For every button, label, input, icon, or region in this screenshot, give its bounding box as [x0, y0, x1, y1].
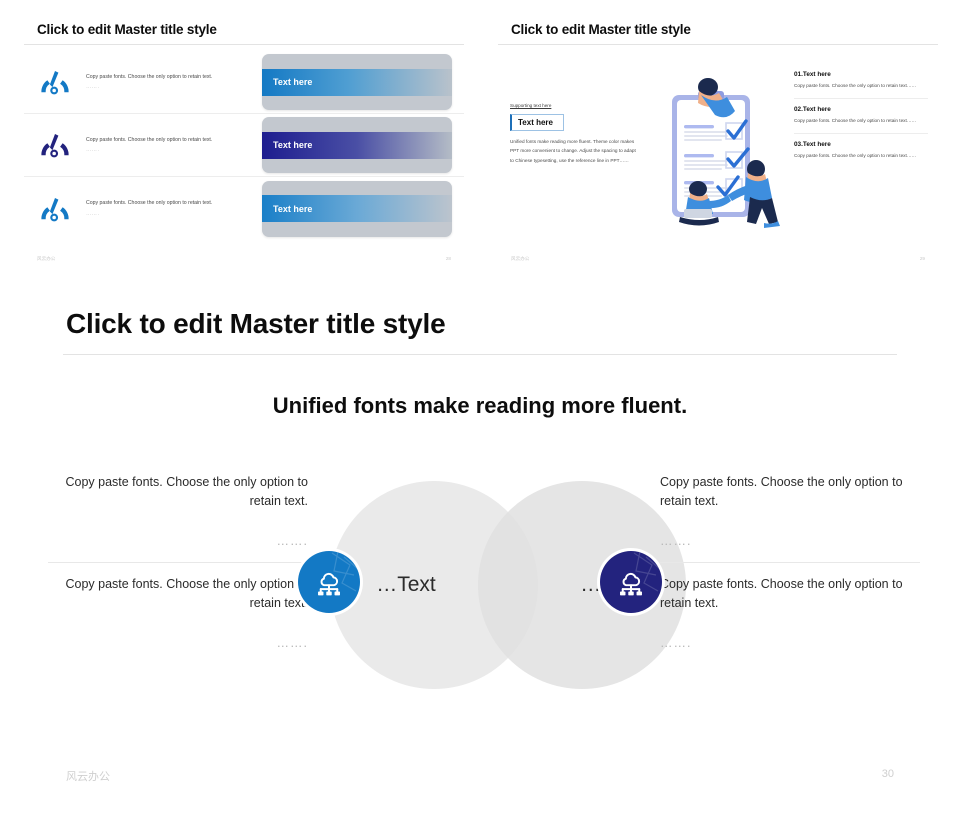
block-text: Copy paste fonts. Choose the only option… — [660, 575, 920, 614]
list-item[interactable]: 02.Text here Copy paste fonts. Choose th… — [794, 106, 928, 134]
bar-label: Text here — [262, 77, 312, 87]
footer-brand: 风云办公 — [511, 256, 529, 262]
list-item-heading: 01.Text here — [794, 71, 928, 78]
gauge-icon — [24, 68, 86, 96]
slide-thumbnail-28[interactable]: Click to edit Master title style Copy pa… — [24, 22, 464, 262]
title-divider — [24, 44, 464, 45]
venn-circle-left-label: …Text — [376, 573, 436, 597]
list-item-text: Copy paste fonts. Choose the only option… — [794, 117, 928, 126]
text-here-bar[interactable]: Text here — [262, 181, 452, 237]
title-divider — [63, 354, 897, 355]
text-block[interactable]: Copy paste fonts. Choose the only option… — [48, 473, 308, 563]
slide-main-30[interactable]: Click to edit Master title style Unified… — [0, 290, 960, 816]
list-item[interactable]: 03.Text here Copy paste fonts. Choose th… — [794, 141, 928, 168]
feature-row[interactable]: Copy paste fonts. Choose the only option… — [24, 177, 464, 240]
footer-page-number: 29 — [920, 256, 925, 262]
list-item[interactable]: 01.Text here Copy paste fonts. Choose th… — [794, 71, 928, 99]
list-item-heading: 03.Text here — [794, 141, 928, 148]
page-title: Click to edit Master title style — [511, 22, 938, 37]
feature-text: Copy paste fonts. Choose the only option… — [86, 135, 236, 155]
slide-thumbnail-29[interactable]: Click to edit Master title style Support… — [498, 22, 938, 262]
text-here-bar[interactable]: Text here — [262, 117, 452, 173]
bar-fill: Text here — [262, 195, 452, 222]
venn-diagram: Copy paste fonts. Choose the only option… — [0, 481, 960, 731]
right-text-column: Copy paste fonts. Choose the only option… — [660, 473, 920, 676]
gauge-icon — [24, 131, 86, 159]
feature-text: Copy paste fonts. Choose the only option… — [86, 72, 236, 92]
block-dots: ……. — [48, 534, 308, 548]
numbered-item-list: 01.Text here Copy paste fonts. Choose th… — [794, 71, 928, 175]
block-dots: ……. — [660, 534, 920, 548]
page-title: Click to edit Master title style — [66, 308, 960, 340]
block-text: Copy paste fonts. Choose the only option… — [660, 473, 920, 512]
cloud-network-icon — [314, 567, 344, 597]
cloud-network-icon-badge-right[interactable] — [600, 551, 662, 613]
list-item-text: Copy paste fonts. Choose the only option… — [794, 82, 928, 91]
cloud-network-icon — [616, 567, 646, 597]
feature-paragraph: Copy paste fonts. Choose the only option… — [86, 135, 232, 145]
list-item-text: Copy paste fonts. Choose the only option… — [794, 152, 928, 161]
feature-row[interactable]: Copy paste fonts. Choose the only option… — [24, 114, 464, 177]
feature-row[interactable]: Copy paste fonts. Choose the only option… — [24, 51, 464, 114]
slide-body: Supporting text here Text here Unified f… — [498, 45, 938, 235]
left-text-column: Copy paste fonts. Choose the only option… — [48, 473, 308, 676]
block-text: Copy paste fonts. Choose the only option… — [48, 473, 308, 512]
footer-brand: 风云办公 — [66, 768, 110, 784]
left-text-panel: Supporting text here Text here Unified f… — [510, 103, 640, 165]
bar-label: Text here — [262, 204, 312, 214]
block-text: Copy paste fonts. Choose the only option… — [48, 575, 308, 614]
gauge-icon — [24, 195, 86, 223]
slide-footer: 风云办公 29 — [498, 256, 938, 262]
text-here-box[interactable]: Text here — [510, 114, 564, 131]
block-dots: ……. — [660, 636, 920, 650]
footer-page-number: 28 — [446, 256, 451, 262]
page-title: Click to edit Master title style — [37, 22, 464, 37]
feature-text: Copy paste fonts. Choose the only option… — [86, 198, 236, 218]
block-dots: ……. — [48, 636, 308, 650]
text-block[interactable]: Copy paste fonts. Choose the only option… — [660, 473, 920, 563]
bar-label: Text here — [262, 140, 312, 150]
headline: Unified fonts make reading more fluent. — [0, 393, 960, 419]
bar-fill: Text here — [262, 69, 452, 96]
slide-footer: 风云办公 28 — [24, 256, 464, 262]
text-block[interactable]: Copy paste fonts. Choose the only option… — [660, 575, 920, 664]
checklist-illustration — [638, 73, 803, 238]
footer-page-number: 30 — [882, 768, 894, 784]
list-item-heading: 02.Text here — [794, 106, 928, 113]
left-paragraph: Unified fonts make reading more fluent. … — [510, 137, 640, 165]
feature-row-list: Copy paste fonts. Choose the only option… — [24, 51, 464, 240]
feature-paragraph: Copy paste fonts. Choose the only option… — [86, 72, 232, 82]
feature-dots: ……. — [86, 209, 232, 219]
slide-deck-page: Click to edit Master title style Copy pa… — [0, 0, 960, 816]
bar-fill: Text here — [262, 132, 452, 159]
footer-brand: 风云办公 — [37, 256, 55, 262]
text-here-bar[interactable]: Text here — [262, 54, 452, 110]
text-block[interactable]: Copy paste fonts. Choose the only option… — [48, 575, 308, 664]
supporting-text-label: Supporting text here — [510, 103, 640, 108]
feature-dots: ……. — [86, 82, 232, 92]
feature-dots: ……. — [86, 145, 232, 155]
feature-paragraph: Copy paste fonts. Choose the only option… — [86, 198, 232, 208]
cloud-network-icon-badge-left[interactable] — [298, 551, 360, 613]
slide-footer: 风云办公 30 — [0, 768, 960, 784]
